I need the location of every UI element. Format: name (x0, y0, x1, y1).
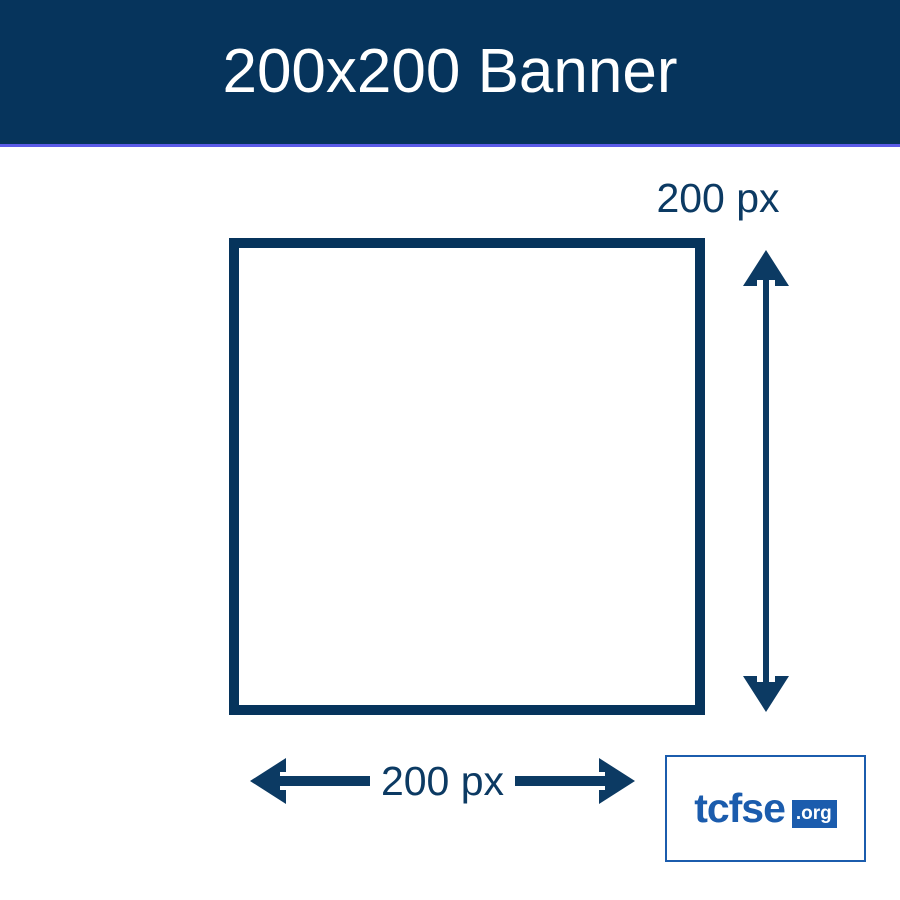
height-dimension-arrow-icon (735, 250, 797, 712)
height-dimension-label: 200 px (638, 175, 798, 222)
logo-tld-badge: .org (792, 800, 837, 828)
logo-wordmark: tcfse (694, 788, 785, 829)
width-dimension-label: 200 px (375, 761, 510, 802)
header-banner: 200x200 Banner (0, 0, 900, 147)
banner-square-outline (229, 238, 705, 715)
diagram-stage: 200 px 200 px tcfse .org (0, 147, 900, 900)
page-title: 200x200 Banner (222, 41, 677, 103)
logo-lockup: tcfse .org (694, 788, 837, 829)
width-dimension-group: 200 px (250, 752, 635, 810)
logo-box[interactable]: tcfse .org (665, 755, 866, 862)
width-arrow-left-icon (250, 752, 370, 810)
width-arrow-right-icon (515, 752, 635, 810)
